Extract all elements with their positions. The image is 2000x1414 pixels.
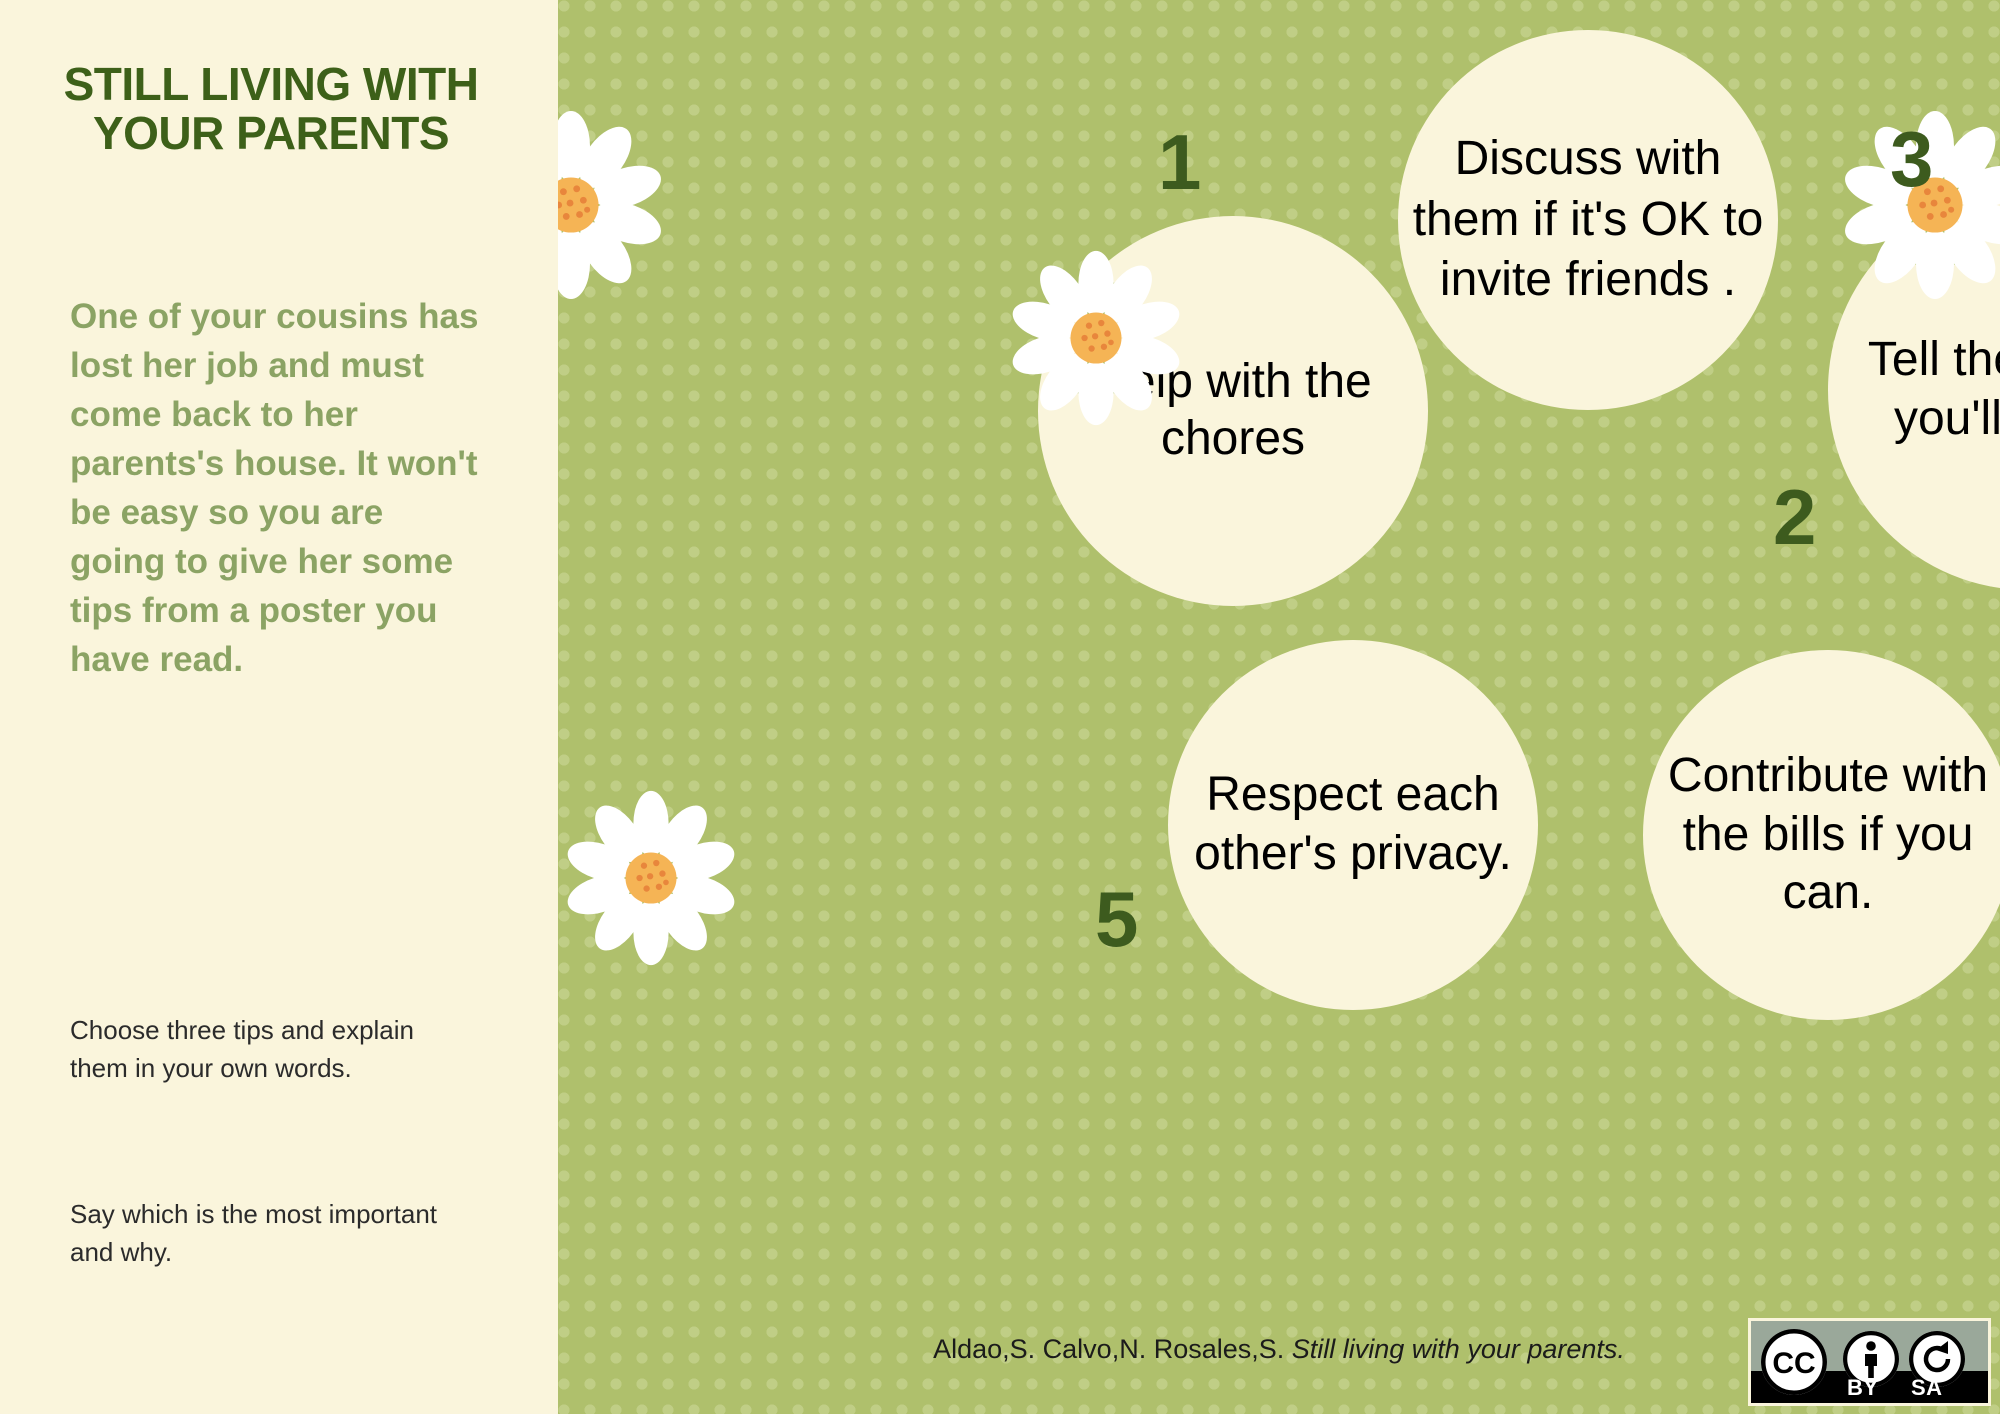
tip-bubble-4[interactable]: Contribute with the bills if you can. [1643, 650, 2000, 1020]
daisy-flower-icon [558, 110, 666, 300]
tip-number-1: 1 [1158, 123, 1201, 201]
svg-text:CC: CC [1772, 1347, 1815, 1380]
instruction-most-important: Say which is the most important and why. [70, 1196, 460, 1271]
credit-work-title: Still living with your parents. [1292, 1334, 1625, 1364]
tip-text-4: Contribute with the bills if you can. [1643, 747, 2000, 923]
instruction-choose-tips: Choose three tips and explain them in yo… [70, 1012, 460, 1087]
daisy-flower-icon [1008, 250, 1184, 426]
tip-text-3: Tell them when you'll be out. [1828, 331, 2000, 448]
tip-text-5: Respect each other's privacy. [1168, 766, 1538, 883]
tip-bubble-5[interactable]: Respect each other's privacy. [1168, 640, 1538, 1010]
sidebar: STILL LIVING WITH YOUR PARENTS One of yo… [0, 0, 558, 1414]
tip-text-2: Discuss with them if it's OK to invite f… [1398, 129, 1778, 310]
tip-number-3: 3 [1890, 120, 1933, 198]
tip-bubble-2[interactable]: Discuss with them if it's OK to invite f… [1398, 30, 1778, 410]
credit-authors: Aldao,S. Calvo,N. Rosales,S. [933, 1334, 1292, 1364]
poster-canvas: STILL LIVING WITH YOUR PARENTS One of yo… [0, 0, 2000, 1414]
page-title: STILL LIVING WITH YOUR PARENTS [56, 60, 486, 158]
cc-sa-label: SA [1911, 1375, 1943, 1401]
daisy-flower-icon [563, 790, 739, 966]
lead-paragraph: One of your cousins has lost her job and… [70, 292, 480, 684]
creative-commons-icon: CC [1761, 1329, 1827, 1395]
tip-number-2: 2 [1773, 478, 1816, 556]
tips-panel: Help with the chores Discuss with them i… [558, 0, 2000, 1414]
cc-license-badge[interactable]: CC BY SA [1748, 1318, 1991, 1406]
tip-number-5: 5 [1095, 880, 1138, 958]
cc-by-label: BY [1847, 1375, 1879, 1401]
